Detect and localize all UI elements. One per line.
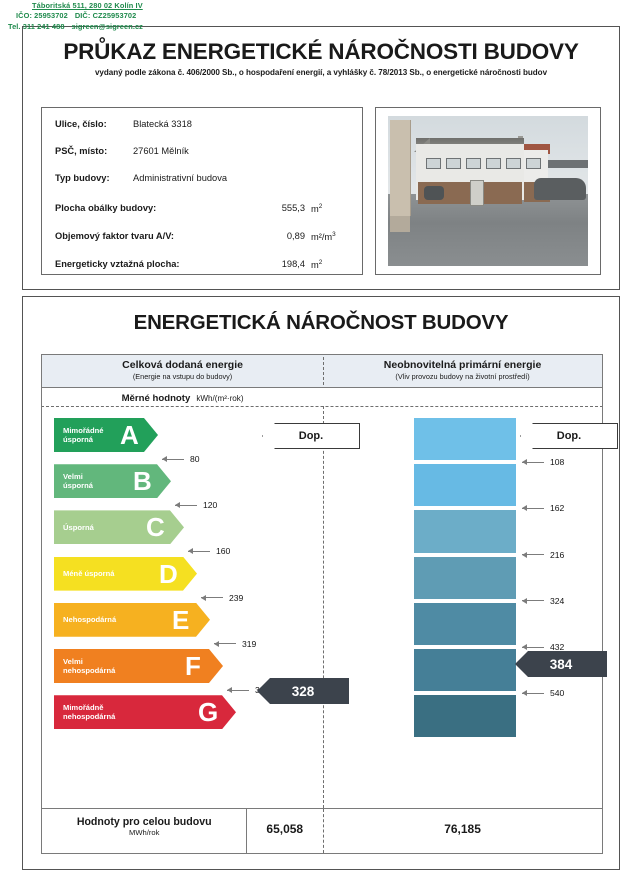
- stamp-ids: IČO: 25953702DIČ: CZ25953702: [8, 11, 238, 21]
- scale-tick-value: 319: [242, 639, 256, 649]
- info-row: Plocha obálky budovy:m2555,3: [55, 203, 156, 213]
- column-right-title: Neobnovitelná primární energie: [323, 359, 602, 371]
- energy-class-letter: C: [146, 514, 165, 540]
- whole-building-totals-row: Hodnoty pro celou budovu MWh/rok 65,058 …: [41, 808, 603, 854]
- energy-class-d: Méně úspornáD: [54, 557, 197, 591]
- page-subtitle: vydaný podle zákona č. 406/2000 Sb., o h…: [23, 68, 619, 77]
- primary-energy-band: [414, 603, 516, 645]
- info-row: Ulice, číslo:Blatecká 3318: [55, 119, 107, 129]
- energy-performance-panel: ENERGETICKÁ NÁROČNOST BUDOVY Celková dod…: [22, 296, 620, 870]
- scale-tick-value: 108: [550, 457, 564, 467]
- info-row: Objemový faktor tvaru A/V:m²/m30,89: [55, 231, 174, 241]
- energy-class-letter: E: [172, 607, 189, 633]
- scale-tick-left: 239: [201, 593, 243, 603]
- stamp-contact: Tel. 311 241 488sigreen@sigreen.cz: [8, 22, 238, 32]
- energy-class-label: Velmi nehospodárná: [54, 657, 115, 675]
- energy-class-e: NehospodárnáE: [54, 603, 210, 637]
- column-header-left: Celková dodaná energie (Energie na vstup…: [42, 359, 323, 381]
- totals-right-value: 76,185: [323, 822, 602, 836]
- info-unit: m2: [311, 259, 322, 270]
- units-value: kWh/(m²·rok): [196, 394, 243, 403]
- units-label: Měrné hodnoty: [122, 393, 191, 404]
- totals-unit: MWh/rok: [42, 828, 246, 837]
- scale-tick-right: 324: [522, 596, 564, 606]
- energy-indicator-left: 328: [257, 678, 349, 704]
- info-label: Objemový faktor tvaru A/V:: [55, 231, 174, 241]
- stamp-dic: DIČ: CZ25953702: [75, 11, 136, 20]
- stamp-email: sigreen@sigreen.cz: [72, 22, 143, 31]
- column-right-subtitle: (Vliv provozu budovy na životní prostřed…: [323, 372, 602, 381]
- page-title: PRŮKAZ ENERGETICKÉ NÁROČNOSTI BUDOVY: [23, 39, 619, 65]
- primary-energy-band: [414, 464, 516, 506]
- energy-class-label: Méně úsporná: [54, 569, 114, 578]
- info-value: Administrativní budova: [133, 173, 227, 183]
- building-photo-frame: [375, 107, 601, 275]
- stamp-ico: IČO: 25953702: [16, 11, 68, 20]
- recommendation-marker-left: Dop.: [262, 423, 360, 449]
- info-row: Energeticky vztažná plocha:m2198,4: [55, 259, 180, 269]
- scale-tick-value: 216: [550, 550, 564, 560]
- scale-tick-value: 162: [550, 503, 564, 513]
- header-divider: [323, 357, 324, 385]
- scale-tick-value: 540: [550, 688, 564, 698]
- body-divider: [323, 406, 324, 808]
- energy-scale-body: Mimořádné úspornáA80Velmi úspornáB120Úsp…: [41, 406, 603, 808]
- energy-class-letter: A: [120, 422, 139, 448]
- scale-column-headers: Celková dodaná energie (Energie na vstup…: [41, 354, 603, 388]
- scale-tick-right: 540: [522, 688, 564, 698]
- units-row: Měrné hodnotykWh/(m²·rok): [41, 386, 603, 407]
- energy-class-label: Mimořádně nehospodárná: [54, 703, 115, 721]
- info-label: PSČ, místo:: [55, 146, 107, 156]
- recommendation-label: Dop.: [521, 424, 617, 448]
- energy-class-b: Velmi úspornáB: [54, 464, 171, 498]
- scale-tick-value: 432: [550, 642, 564, 652]
- scale-tick-left: 120: [175, 500, 217, 510]
- info-value: 555,3: [265, 203, 305, 213]
- building-photo: [388, 116, 588, 266]
- recommendation-marker-right: Dop.: [520, 423, 618, 449]
- scale-tick-right: 162: [522, 503, 564, 513]
- primary-energy-band: [414, 649, 516, 691]
- scale-tick-value: 120: [203, 500, 217, 510]
- primary-energy-band: [414, 510, 516, 552]
- info-value: 198,4: [265, 259, 305, 269]
- recommendation-label: Dop.: [263, 424, 359, 448]
- info-label: Typ budovy:: [55, 173, 110, 183]
- section-title: ENERGETICKÁ NÁROČNOST BUDOVY: [23, 311, 619, 335]
- energy-class-label: Nehospodárná: [54, 615, 116, 624]
- scale-tick-value: 239: [229, 593, 243, 603]
- building-info-table: Ulice, číslo:Blatecká 3318PSČ, místo:276…: [41, 107, 363, 275]
- scale-tick-left: 319: [214, 639, 256, 649]
- primary-energy-band: [414, 557, 516, 599]
- column-header-right: Neobnovitelná primární energie (Vliv pro…: [323, 359, 602, 381]
- primary-energy-band: [414, 695, 516, 737]
- scale-tick-value: 324: [550, 596, 564, 606]
- totals-left-value: 65,058: [246, 822, 323, 836]
- info-value: 27601 Mělník: [133, 146, 189, 156]
- info-value: 0,89: [265, 231, 305, 241]
- company-stamp: Táboritská 511, 280 02 Kolín IV IČO: 259…: [8, 1, 238, 32]
- energy-class-label: Úsporná: [54, 523, 94, 532]
- info-unit: m2: [311, 203, 322, 214]
- energy-class-a: Mimořádné úspornáA: [54, 418, 158, 452]
- energy-class-letter: D: [159, 561, 178, 587]
- info-label: Plocha obálky budovy:: [55, 203, 156, 213]
- scale-tick-value: 160: [216, 546, 230, 556]
- info-value: Blatecká 3318: [133, 119, 192, 129]
- column-left-title: Celková dodaná energie: [42, 359, 323, 371]
- indicator-value: 384: [550, 657, 573, 672]
- info-label: Ulice, číslo:: [55, 119, 107, 129]
- totals-label: Hodnoty pro celou budovu: [42, 816, 246, 828]
- info-unit: m²/m3: [311, 231, 336, 242]
- column-left-subtitle: (Energie na vstupu do budovy): [42, 372, 323, 381]
- scale-tick-right: 216: [522, 550, 564, 560]
- certificate-header-panel: PRŮKAZ ENERGETICKÉ NÁROČNOSTI BUDOVY vyd…: [22, 26, 620, 290]
- info-row: Typ budovy:Administrativní budova: [55, 173, 110, 183]
- primary-energy-band: [414, 418, 516, 460]
- stamp-tel: Tel. 311 241 488: [8, 22, 65, 31]
- energy-class-g: Mimořádně nehospodárnáG: [54, 695, 236, 729]
- energy-indicator-right: 384: [515, 651, 607, 677]
- stamp-address: Táboritská 511, 280 02 Kolín IV: [8, 1, 238, 11]
- energy-class-letter: B: [133, 468, 152, 494]
- info-row: PSČ, místo:27601 Mělník: [55, 146, 107, 156]
- energy-class-letter: G: [198, 699, 218, 725]
- energy-class-label: Mimořádné úsporná: [54, 426, 104, 444]
- energy-class-letter: F: [185, 653, 201, 679]
- energy-class-label: Velmi úsporná: [54, 472, 93, 490]
- energy-class-c: ÚspornáC: [54, 510, 184, 544]
- indicator-value: 328: [292, 684, 315, 699]
- scale-tick-right: 432: [522, 642, 564, 652]
- scale-tick-left: 160: [188, 546, 230, 556]
- scale-tick-left: 80: [162, 454, 200, 464]
- totals-label-cell: Hodnoty pro celou budovu MWh/rok: [42, 816, 246, 837]
- energy-class-f: Velmi nehospodárnáF: [54, 649, 223, 683]
- scale-tick-right: 108: [522, 457, 564, 467]
- scale-tick-value: 80: [190, 454, 200, 464]
- info-label: Energeticky vztažná plocha:: [55, 259, 180, 269]
